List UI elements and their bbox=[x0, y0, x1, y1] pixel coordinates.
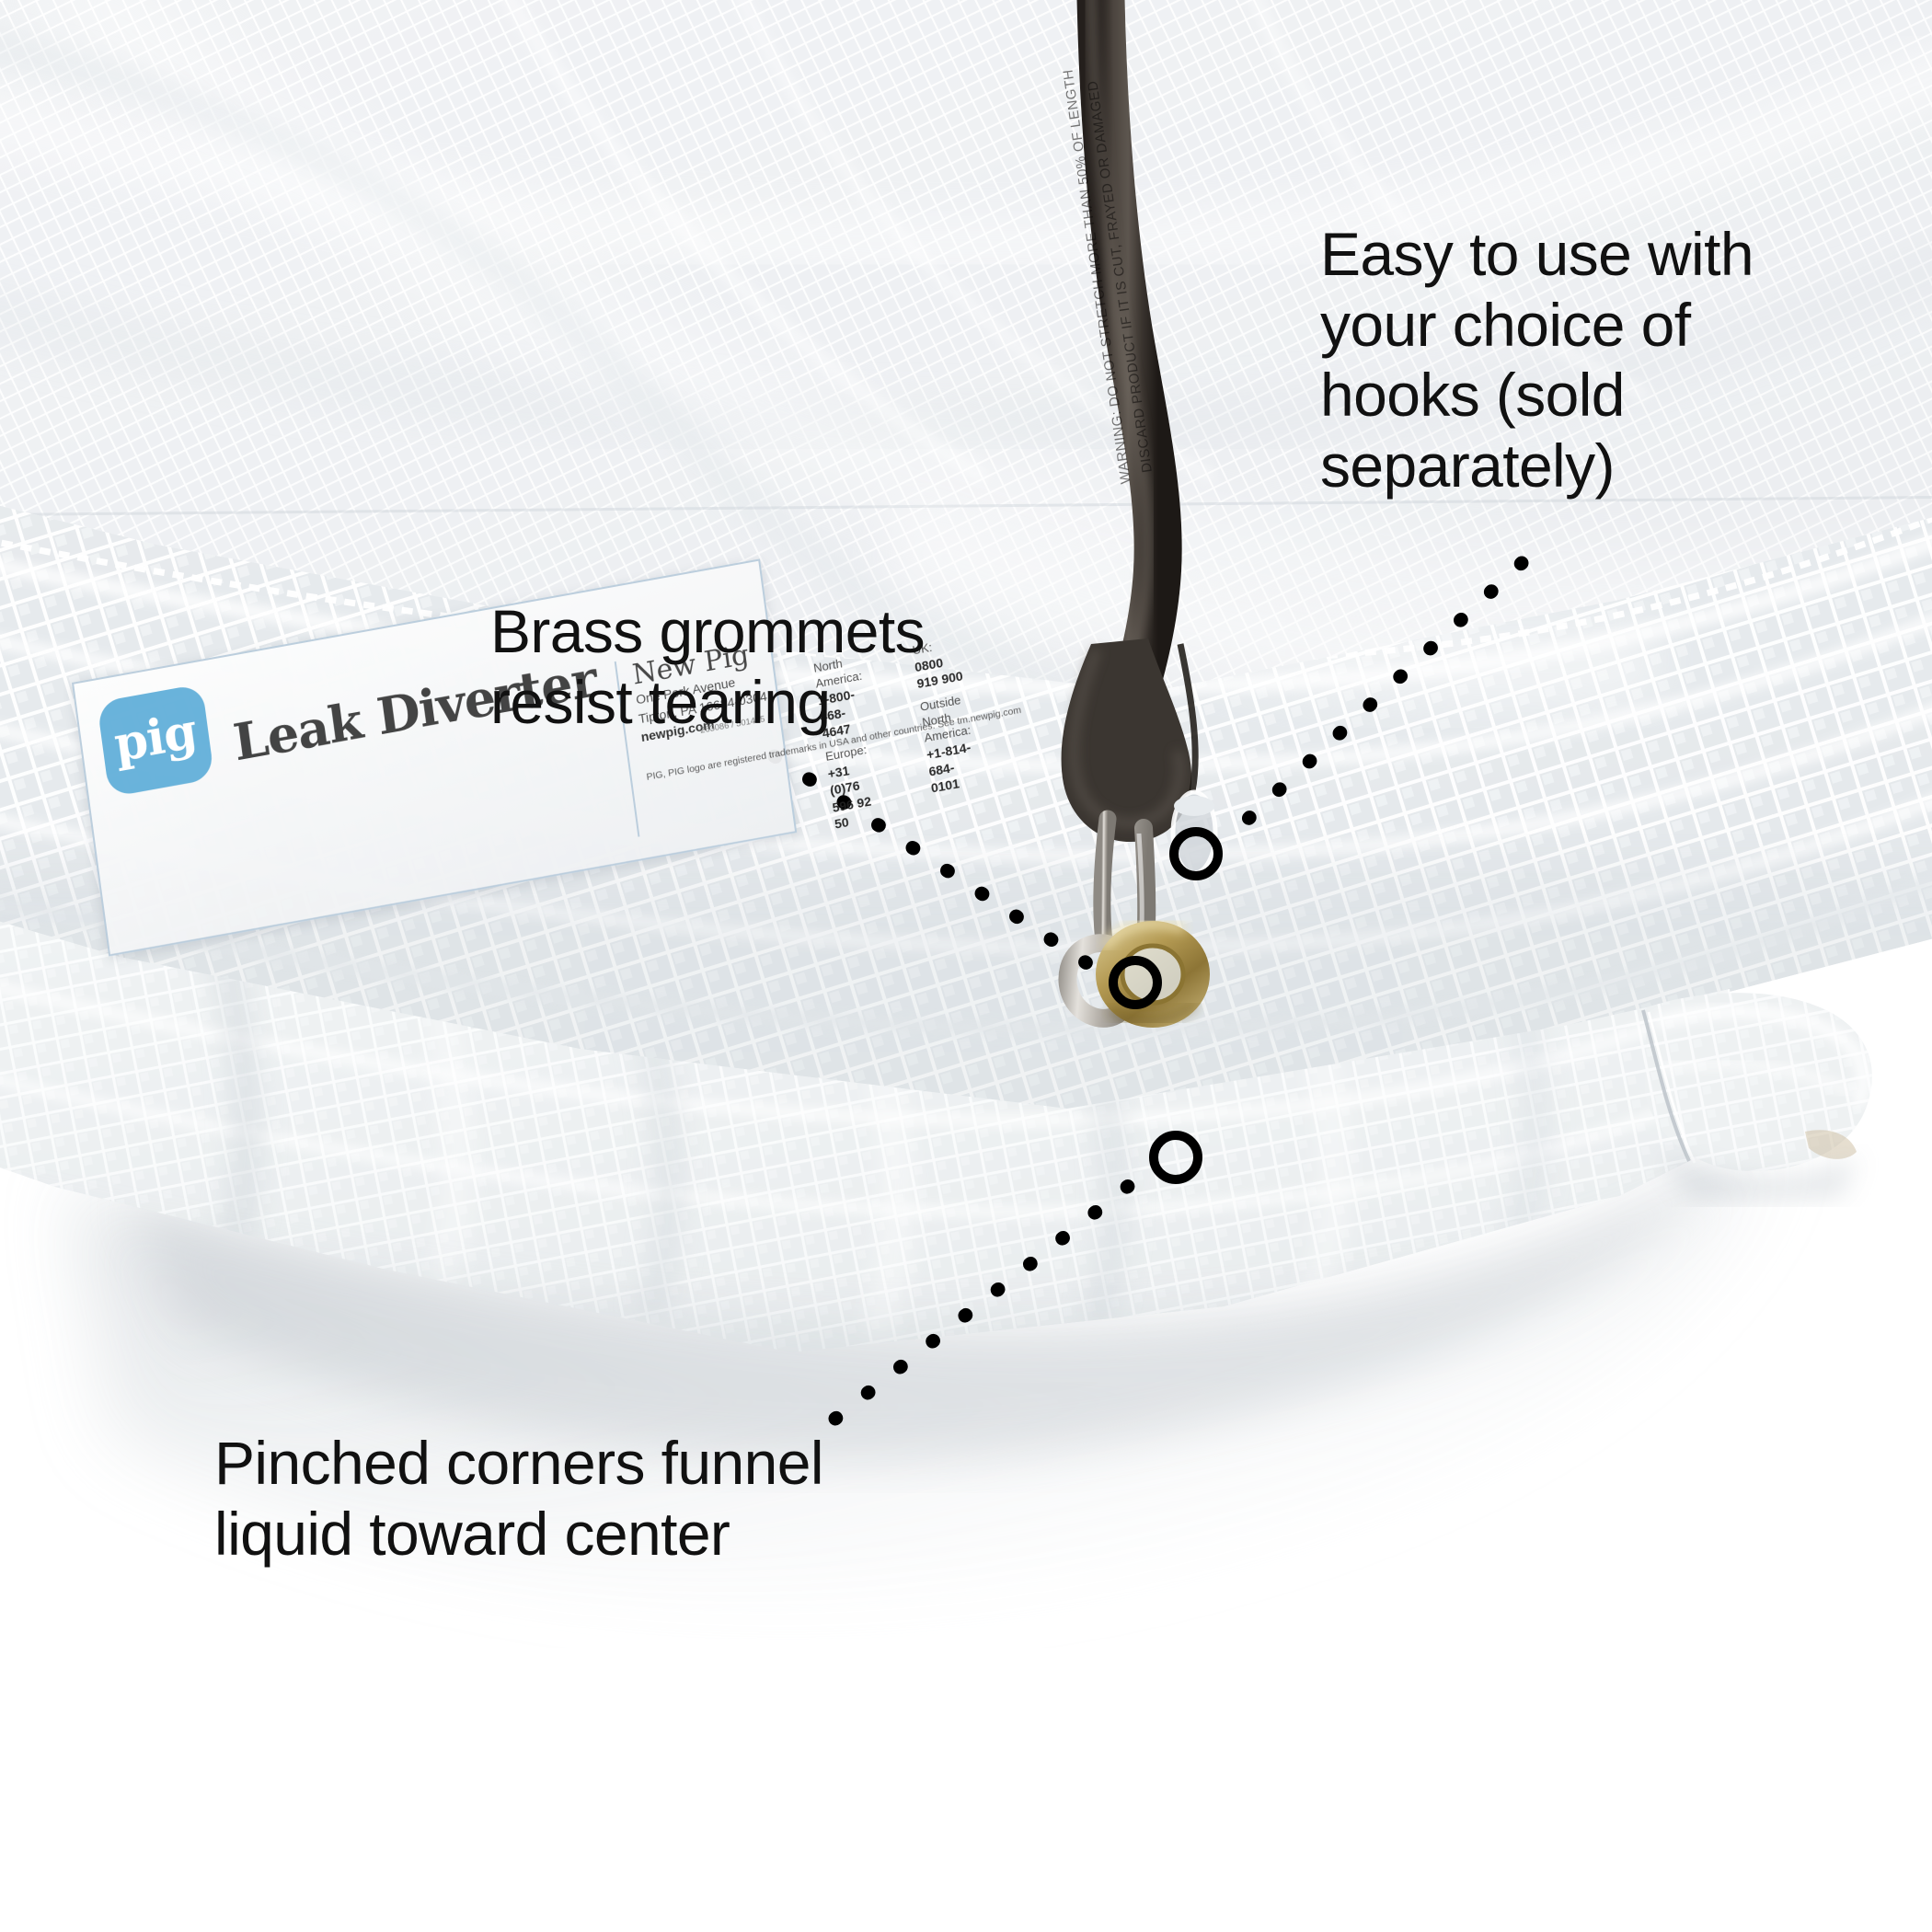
pinched-corner bbox=[1643, 993, 1872, 1202]
contact-number-3: +1-814-684-0101 bbox=[926, 739, 979, 797]
pig-logo-text: pig bbox=[111, 707, 199, 769]
callout-text-hooks: Easy to use with your choice of hooks (s… bbox=[1320, 219, 1872, 500]
callout-text-grommet: Brass grommets resist tearing bbox=[490, 596, 1042, 737]
contact-number-1: +31 (0)76 596 92 50 bbox=[827, 757, 882, 832]
product-feature-image: WARNING: DO NOT STRETCH MORE THAN 50% OF… bbox=[0, 0, 1932, 1932]
pig-logo-icon: pig bbox=[97, 684, 214, 798]
callout-text-corner: Pinched corners funnel liquid toward cen… bbox=[214, 1428, 987, 1569]
